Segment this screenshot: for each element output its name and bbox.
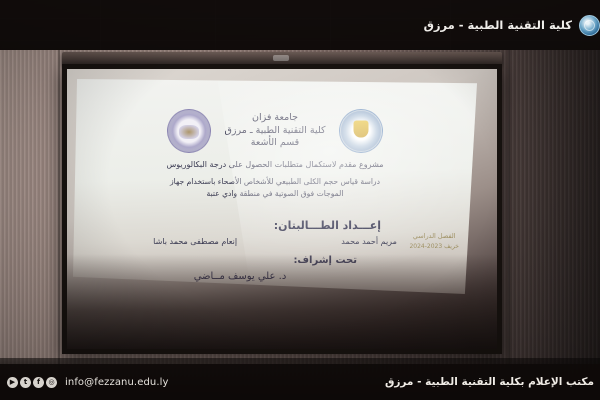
instagram-icon[interactable]: ◎	[46, 377, 57, 388]
term-year: خريف 2023-2024	[409, 242, 459, 252]
slide-department-name: قسم الأشعة	[225, 137, 326, 150]
media-office-credit: مكتب الإعلام بكلية التقنية الطبية - مرزق	[385, 376, 600, 388]
youtube-icon[interactable]: ▶	[7, 377, 18, 388]
slide-college-name: كلية التقنية الطبية ـ مرزق	[225, 125, 326, 138]
project-title-line-2: الموجات فوق الصوتية في منطقة وادي عتبة	[93, 188, 457, 200]
slide-project-description: مشروع مقدم لاستكمال متطلبات الحصول على د…	[93, 159, 457, 200]
social-icons: ▶ t f ◎	[7, 377, 57, 388]
projection-screen: جامعة فزان كلية التقنية الطبية ـ مرزق قس…	[62, 64, 502, 354]
project-degree-line: مشروع مقدم لاستكمال متطلبات الحصول على د…	[93, 159, 457, 172]
housing-badge-icon	[273, 55, 289, 61]
slide-header: جامعة فزان كلية التقنية الطبية ـ مرزق قس…	[73, 109, 477, 153]
top-overlay-bar: كلية التقنية الطبية - مرزق	[0, 0, 600, 50]
contact-group: ▶ t f ◎ info@fezzanu.edu.ly	[0, 377, 169, 388]
bottom-overlay-bar: ▶ t f ◎ info@fezzanu.edu.ly مكتب الإعلام…	[0, 364, 600, 400]
contact-email: info@fezzanu.edu.ly	[65, 377, 169, 388]
university-seal-icon	[167, 109, 211, 153]
room-photo: جامعة فزان كلية التقنية الطبية ـ مرزق قس…	[0, 0, 600, 400]
preparation-label: إعـــداد الطـــالبتان:	[274, 219, 381, 232]
projected-slide: جامعة فزان كلية التقنية الطبية ـ مرزق قس…	[73, 79, 477, 294]
student-name-1: إنعام مصطفى محمد باشا	[153, 237, 237, 246]
supervision-label: تحت إشراف:	[293, 255, 357, 266]
supervisor-name: د. علي يوسف مــاضي	[73, 271, 407, 282]
globe-emblem-icon	[579, 15, 600, 36]
academic-term-box: الفصل الدراسي خريف 2023-2024	[409, 231, 459, 252]
brand-title: كلية التقنية الطبية - مرزق	[424, 18, 572, 32]
brand-lockup: كلية التقنية الطبية - مرزق	[418, 15, 600, 36]
project-title-line-1: دراسة قياس حجم الكلى الطبيعي للأشخاص الأ…	[93, 176, 457, 188]
term-label: الفصل الدراسي	[409, 231, 459, 242]
student-name-2: مريم أحمد محمد	[341, 237, 397, 246]
slide-university-name: جامعة فزان	[225, 112, 326, 125]
student-names: مريم أحمد محمد إنعام مصطفى محمد باشا	[101, 237, 449, 246]
facebook-icon[interactable]: f	[33, 377, 44, 388]
college-emblem-icon	[339, 109, 383, 153]
twitter-icon[interactable]: t	[20, 377, 31, 388]
